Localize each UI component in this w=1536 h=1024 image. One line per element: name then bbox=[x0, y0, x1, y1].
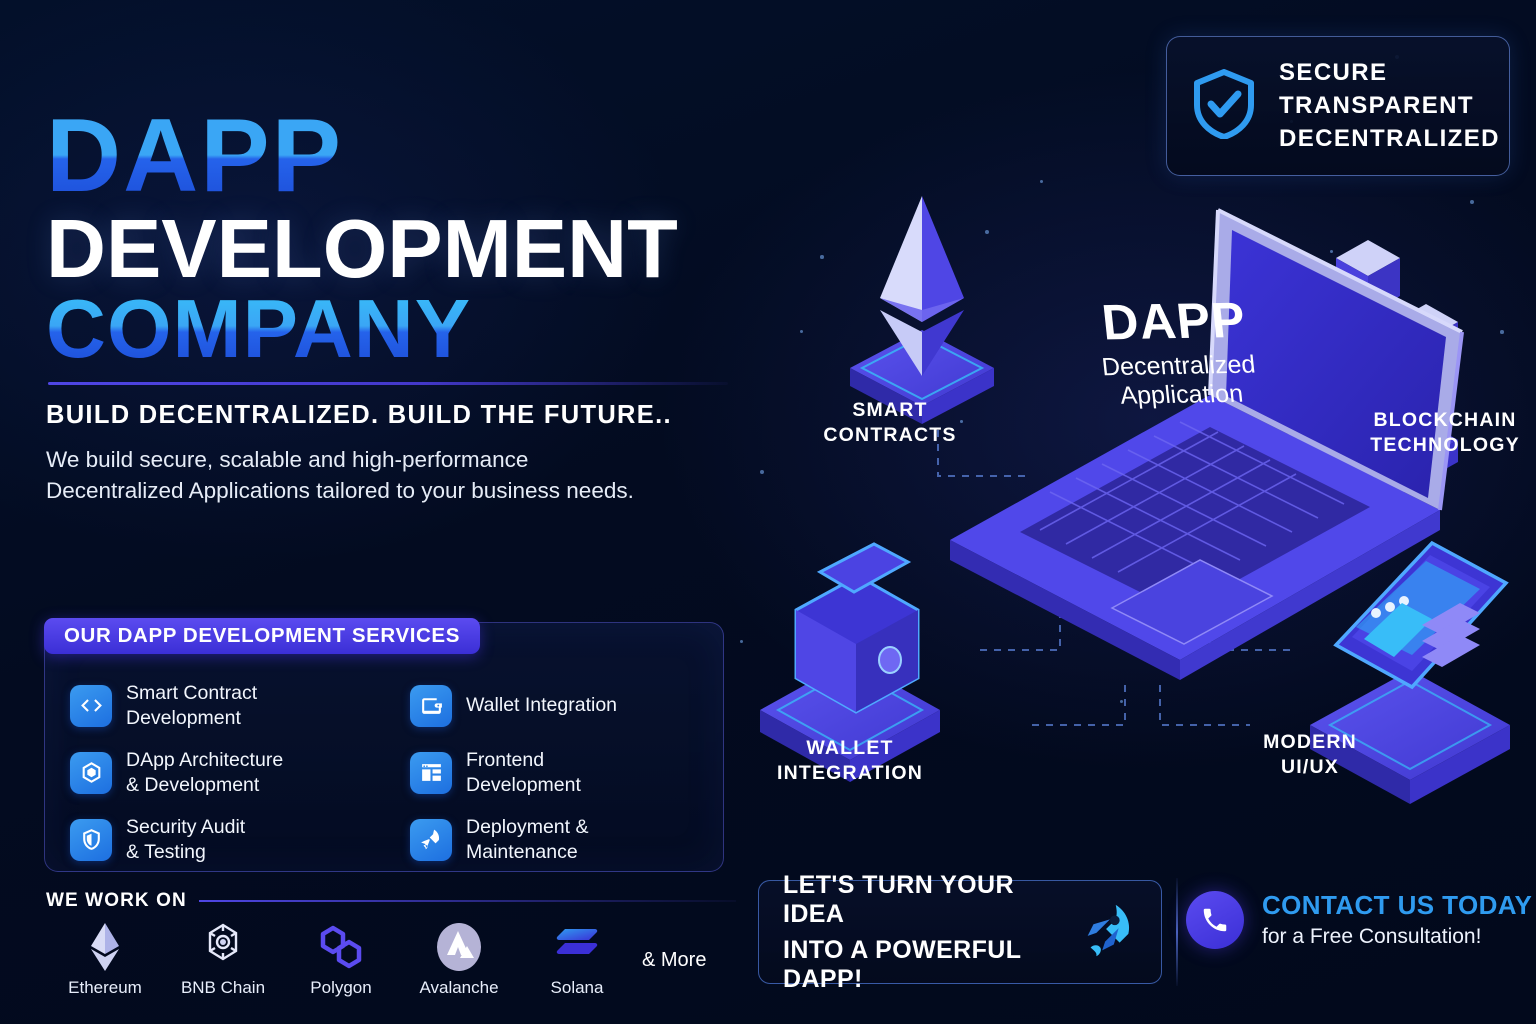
hexagon-architecture-icon bbox=[70, 752, 112, 794]
contact-block[interactable]: CONTACT US TODAY for a Free Consultation… bbox=[1186, 890, 1532, 949]
poster-canvas: DAPP DEVELOPMENT COMPANY BUILD DECENTRAL… bbox=[0, 0, 1536, 1024]
solana-logo bbox=[518, 922, 636, 972]
title-line-1: DAPP bbox=[46, 108, 746, 206]
chain-solana[interactable]: Solana bbox=[518, 922, 636, 998]
smart-contracts-icon bbox=[850, 196, 994, 424]
chain-ethereum[interactable]: Ethereum bbox=[46, 922, 164, 998]
chain-name: Ethereum bbox=[46, 978, 164, 998]
description-line-1: We build secure, scalable and high-perfo… bbox=[46, 444, 746, 476]
laptop-screen-sub-line-1: Decentralized bbox=[1072, 350, 1286, 382]
chain-avalanche[interactable]: Avalanche bbox=[400, 922, 518, 998]
cta-divider bbox=[1176, 878, 1178, 986]
rocket-icon bbox=[1077, 899, 1139, 966]
service-item-shield-security[interactable]: Security Audit& Testing bbox=[70, 806, 410, 873]
we-work-on-divider bbox=[199, 900, 736, 902]
illustration-svg bbox=[730, 180, 1536, 820]
cta-line-2: INTO A POWERFUL DAPP! bbox=[783, 936, 1077, 994]
laptop-screen-text: DAPP Decentralized Application bbox=[1065, 290, 1288, 411]
tagline: BUILD DECENTRALIZED. BUILD THE FUTURE.. bbox=[46, 401, 746, 430]
shield-check-icon bbox=[1193, 69, 1255, 144]
chain-name: Avalanche bbox=[400, 978, 518, 998]
feature-label-modern-ui-ux: MODERNUI/UX bbox=[1210, 730, 1410, 781]
polygon-logo bbox=[282, 922, 400, 972]
code-brackets-icon bbox=[70, 685, 112, 727]
chain-logos-row: EthereumBNB ChainPolygonAvalancheSolana&… bbox=[46, 922, 736, 998]
rocket-icon bbox=[410, 819, 452, 861]
ethereum-logo bbox=[46, 922, 164, 972]
title-divider bbox=[48, 382, 728, 385]
bnb-chain-logo bbox=[164, 922, 282, 972]
service-item-label: Security Audit& Testing bbox=[126, 815, 245, 865]
service-item-layout-frontend[interactable]: FrontendDevelopment bbox=[410, 739, 700, 806]
we-work-on-label: WE WORK ON bbox=[46, 890, 187, 912]
feature-label-blockchain-technology: BLOCKCHAINTECHNOLOGY bbox=[1345, 408, 1536, 459]
service-item-label: Wallet Integration bbox=[466, 693, 617, 718]
laptop-screen-title: DAPP bbox=[1065, 290, 1282, 351]
cta-banner[interactable]: LET'S TURN YOUR IDEA INTO A POWERFUL DAP… bbox=[758, 880, 1162, 984]
secure-transparent-decentralized-badge: SECURE TRANSPARENT DECENTRALIZED bbox=[1166, 36, 1510, 176]
title-line-2: DEVELOPMENT bbox=[46, 210, 746, 288]
chain-polygon[interactable]: Polygon bbox=[282, 922, 400, 998]
contact-title: CONTACT US TODAY bbox=[1262, 890, 1532, 921]
service-item-wallet[interactable]: Wallet Integration bbox=[410, 672, 700, 739]
chain-name: Solana bbox=[518, 978, 636, 998]
avalanche-logo bbox=[400, 922, 518, 972]
services-heading-pill: OUR DAPP DEVELOPMENT SERVICES bbox=[44, 618, 480, 654]
service-item-code-brackets[interactable]: Smart ContractDevelopment bbox=[70, 672, 410, 739]
phone-icon bbox=[1186, 891, 1244, 949]
isometric-illustration: DAPP Decentralized Application SMARTCONT… bbox=[730, 180, 1536, 820]
chain-name: BNB Chain bbox=[164, 978, 282, 998]
contact-subtitle: for a Free Consultation! bbox=[1262, 925, 1532, 949]
services-grid: Smart ContractDevelopmentWallet Integrat… bbox=[70, 672, 700, 873]
title-line-3: COMPANY bbox=[46, 290, 746, 368]
service-item-label: FrontendDevelopment bbox=[466, 748, 581, 798]
badge-line-2: TRANSPARENT bbox=[1279, 92, 1500, 120]
service-item-label: Deployment &Maintenance bbox=[466, 815, 588, 865]
feature-label-wallet-integration: WALLETINTEGRATION bbox=[750, 736, 950, 787]
cta-line-1: LET'S TURN YOUR IDEA bbox=[783, 871, 1077, 929]
badge-line-1: SECURE bbox=[1279, 59, 1500, 87]
laptop-screen-sub-line-2: Application bbox=[1075, 379, 1289, 411]
we-work-on-header: WE WORK ON bbox=[46, 890, 736, 912]
description-line-2: Decentralized Applications tailored to y… bbox=[46, 475, 746, 507]
chain-name: Polygon bbox=[282, 978, 400, 998]
service-item-hexagon-architecture[interactable]: DApp Architecture& Development bbox=[70, 739, 410, 806]
wallet-icon bbox=[410, 685, 452, 727]
services-heading: OUR DAPP DEVELOPMENT SERVICES bbox=[64, 624, 460, 648]
we-work-on-section: WE WORK ON EthereumBNB ChainPolygonAvala… bbox=[46, 890, 736, 998]
service-item-label: DApp Architecture& Development bbox=[126, 748, 283, 798]
hero-text-block: DAPP DEVELOPMENT COMPANY BUILD DECENTRAL… bbox=[46, 108, 746, 507]
badge-line-3: DECENTRALIZED bbox=[1279, 125, 1500, 153]
shield-security-icon bbox=[70, 819, 112, 861]
layout-frontend-icon bbox=[410, 752, 452, 794]
chain-more-label: & More bbox=[642, 949, 706, 998]
service-item-label: Smart ContractDevelopment bbox=[126, 681, 257, 731]
feature-label-smart-contracts: SMARTCONTRACTS bbox=[790, 398, 990, 449]
chain-bnb-chain[interactable]: BNB Chain bbox=[164, 922, 282, 998]
service-item-rocket[interactable]: Deployment &Maintenance bbox=[410, 806, 700, 873]
